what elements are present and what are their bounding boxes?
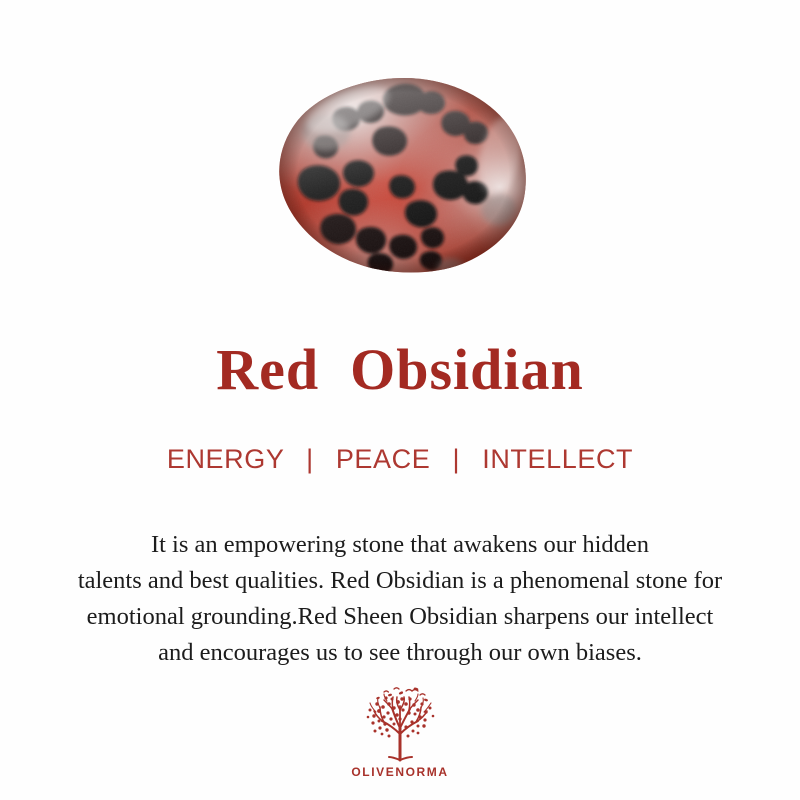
description-line: talents and best qualities. Red Obsidian… — [0, 563, 800, 599]
keyword-separator: | — [292, 444, 328, 474]
keyword-separator: | — [438, 444, 474, 474]
description-text: It is an empowering stone that awakens o… — [0, 527, 800, 671]
tree-of-life-icon — [354, 686, 446, 762]
page-title: Red Obsidian — [0, 337, 800, 403]
brand-logo: OLIVENORMA — [0, 686, 800, 779]
product-info-card: Red Obsidian ENERGY | PEACE | INTELLECT … — [0, 0, 800, 800]
red-obsidian-stone-icon — [276, 76, 530, 274]
keyword-intellect: INTELLECT — [482, 444, 633, 474]
keyword-peace: PEACE — [336, 444, 431, 474]
product-image — [276, 76, 530, 274]
brand-name: OLIVENORMA — [351, 765, 448, 779]
description-line: It is an empowering stone that awakens o… — [0, 527, 800, 563]
keyword-energy: ENERGY — [167, 444, 284, 474]
description-line: and encourages us to see through our own… — [0, 635, 800, 671]
keyword-list: ENERGY | PEACE | INTELLECT — [0, 442, 800, 476]
description-line: emotional grounding.Red Sheen Obsidian s… — [0, 599, 800, 635]
